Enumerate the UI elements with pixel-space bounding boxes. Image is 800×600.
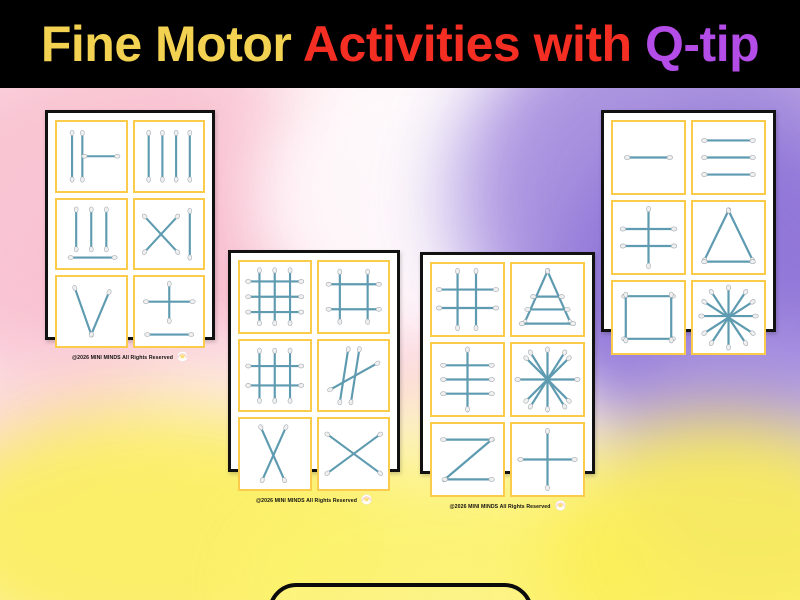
worksheet-footer: @2026 MINI MINDS All Rights Reserved <box>430 499 585 515</box>
activity-card[interactable] <box>238 417 312 491</box>
activity-card[interactable] <box>238 339 312 413</box>
activity-card[interactable] <box>55 198 128 271</box>
worksheet-footer-logo <box>361 492 372 510</box>
activity-card[interactable] <box>317 260 391 334</box>
title-segment-2: Activities with <box>303 16 645 72</box>
worksheet-footer-note: @2026 MINI MINDS All Rights Reserved <box>256 498 357 504</box>
title-segment-3: Q-tip <box>645 16 759 72</box>
activity-card[interactable] <box>430 262 505 337</box>
activity-card[interactable] <box>238 260 312 334</box>
title-segment-1: Fine Motor <box>41 16 303 72</box>
card-count-badge[interactable]: 24 card <box>268 583 533 600</box>
activity-card[interactable] <box>691 280 766 355</box>
worksheet-1[interactable]: @2026 MINI MINDS All Rights Reserved <box>45 110 215 340</box>
poster-root: Fine Motor Activities with Q-tip @2026 M… <box>0 0 800 600</box>
worksheet-card-grid <box>430 262 585 497</box>
activity-card[interactable] <box>133 120 206 193</box>
activity-card[interactable] <box>430 342 505 417</box>
worksheet-card-grid <box>611 120 766 355</box>
activity-card[interactable] <box>510 342 585 417</box>
poster-body: @2026 MINI MINDS All Rights Reserved@202… <box>0 88 800 600</box>
title-bar: Fine Motor Activities with Q-tip <box>0 0 800 88</box>
worksheet-4[interactable] <box>601 110 776 332</box>
activity-card[interactable] <box>510 262 585 337</box>
worksheet-footer-logo <box>555 498 566 516</box>
activity-card[interactable] <box>55 120 128 193</box>
worksheet-footer: @2026 MINI MINDS All Rights Reserved <box>55 350 205 366</box>
page-title: Fine Motor Activities with Q-tip <box>41 19 759 69</box>
activity-card[interactable] <box>317 417 391 491</box>
activity-card[interactable] <box>133 275 206 348</box>
worksheet-card-grid <box>238 260 390 491</box>
footer-logo-icon <box>555 500 566 511</box>
worksheet-footer: @2026 MINI MINDS All Rights Reserved <box>238 493 390 509</box>
activity-card[interactable] <box>317 339 391 413</box>
worksheet-card-grid <box>55 120 205 348</box>
activity-card[interactable] <box>133 198 206 271</box>
worksheet-footer-note: @2026 MINI MINDS All Rights Reserved <box>449 504 550 510</box>
activity-card[interactable] <box>611 200 686 275</box>
activity-card[interactable] <box>510 422 585 497</box>
worksheet-footer-note: @2026 MINI MINDS All Rights Reserved <box>72 355 173 361</box>
footer-logo-icon <box>361 494 372 505</box>
activity-card[interactable] <box>611 280 686 355</box>
card-count-label: 24 card <box>348 594 453 600</box>
worksheet-footer-logo <box>177 349 188 367</box>
activity-card[interactable] <box>691 120 766 195</box>
footer-logo-icon <box>177 351 188 362</box>
worksheet-3[interactable]: @2026 MINI MINDS All Rights Reserved <box>420 252 595 474</box>
activity-card[interactable] <box>691 200 766 275</box>
worksheet-2[interactable]: @2026 MINI MINDS All Rights Reserved <box>228 250 400 472</box>
activity-card[interactable] <box>55 275 128 348</box>
activity-card[interactable] <box>430 422 505 497</box>
activity-card[interactable] <box>611 120 686 195</box>
